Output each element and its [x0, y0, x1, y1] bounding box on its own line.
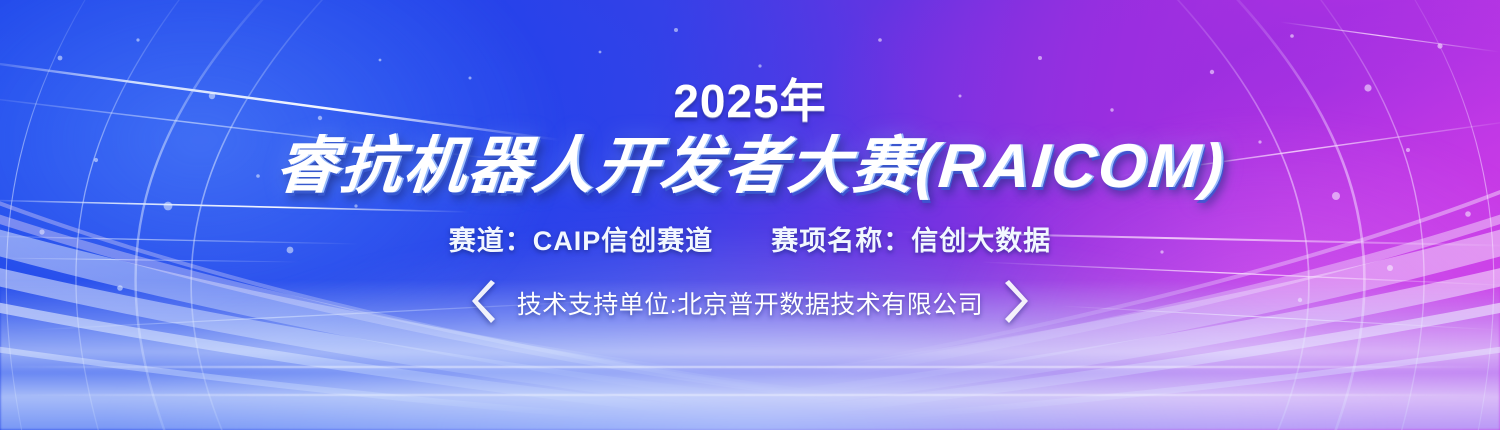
banner-content: 2025年 睿抗机器人开发者大赛(RAICOM) 赛道：CAIP信创赛道 赛项名… [0, 0, 1500, 430]
support-unit-text: 技术支持单位:北京普开数据技术有限公司 [517, 285, 983, 321]
page-title: 睿抗机器人开发者大赛(RAICOM) [273, 134, 1228, 201]
subtitle-row: 赛道：CAIP信创赛道 赛项名称：信创大数据 [449, 219, 1052, 258]
track-label: 赛道：CAIP信创赛道 [449, 219, 714, 258]
right-chevron-icon [1005, 278, 1031, 329]
year-label: 2025年 [673, 78, 826, 124]
support-row: 技术支持单位:北京普开数据技术有限公司 [469, 278, 1031, 329]
event-banner: 2025年 睿抗机器人开发者大赛(RAICOM) 赛道：CAIP信创赛道 赛项名… [0, 0, 1500, 430]
event-name-label: 赛项名称：信创大数据 [771, 219, 1051, 258]
left-chevron-icon [469, 278, 495, 329]
